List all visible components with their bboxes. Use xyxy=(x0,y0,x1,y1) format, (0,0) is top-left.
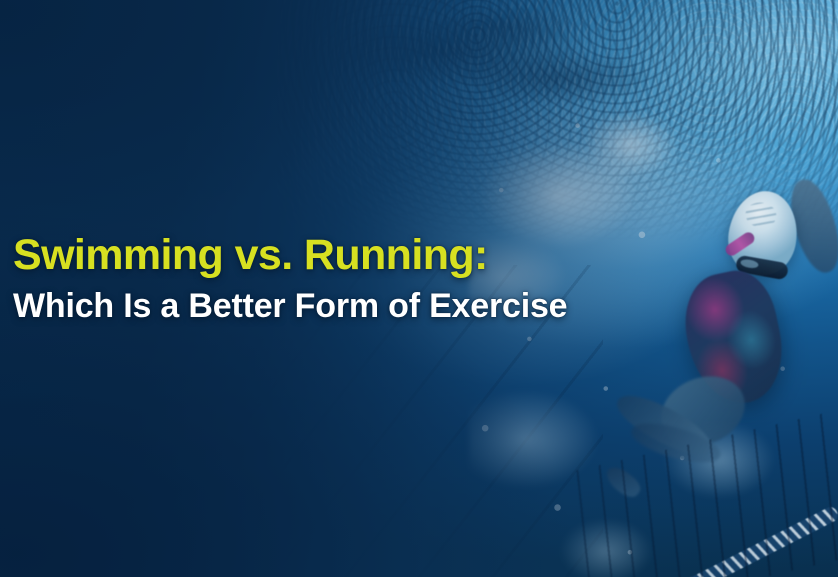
headline-block: Swimming vs. Running: Which Is a Better … xyxy=(13,232,713,326)
hero-banner: Swimming vs. Running: Which Is a Better … xyxy=(0,0,838,577)
headline-secondary: Which Is a Better Form of Exercise xyxy=(13,288,713,325)
headline-primary: Swimming vs. Running: xyxy=(13,232,713,278)
